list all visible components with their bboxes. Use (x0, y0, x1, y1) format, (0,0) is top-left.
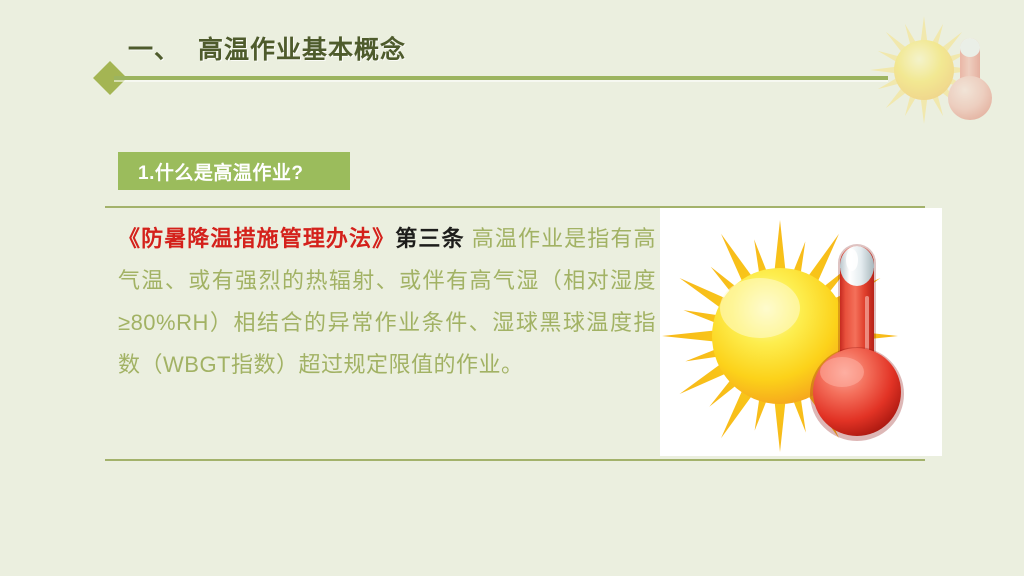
sun-thermometer-watermark-icon (868, 14, 1024, 126)
page-title: 一、高温作业基本概念 (128, 30, 406, 66)
title-divider (98, 66, 888, 90)
sun-thermometer-icon (660, 208, 942, 456)
page-title-numeral: 一、 (128, 36, 180, 64)
content-rule-bottom (105, 459, 925, 461)
law-article: 第三条 (395, 226, 464, 251)
slide-canvas: 一、高温作业基本概念 1.什么是高温作业? 《防暑降温措施管理办法》第三条 高温… (0, 0, 1024, 576)
divider-line (114, 76, 888, 80)
section-banner-label: 1.什么是高温作业? (118, 158, 303, 185)
page-title-text: 高温作业基本概念 (198, 36, 406, 64)
law-name: 《防暑降温措施管理办法》 (118, 226, 395, 251)
definition-paragraph: 《防暑降温措施管理办法》第三条 高温作业是指有高气温、或有强烈的热辐射、或伴有高… (118, 218, 656, 386)
section-banner: 1.什么是高温作业? (118, 152, 350, 190)
